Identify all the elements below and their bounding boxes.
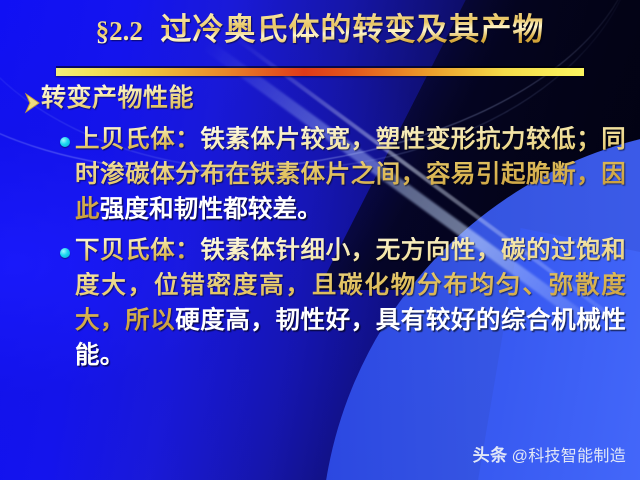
bullet-term: 下贝氏体： [75, 237, 200, 264]
arrow-right-triangle-icon [24, 88, 41, 118]
bullet-dot-icon [60, 248, 70, 258]
slide-body: 转变产物性能 上贝氏体：铁素体片较宽，塑性变形抗力较低；同时渗碳体分布在铁素体片… [0, 82, 640, 379]
bullet-emphasis: 强度和韧性都较差。 [100, 196, 322, 223]
bullet-dot-icon [60, 137, 70, 147]
watermark: 头条 @科技智能制造 [473, 441, 626, 466]
list-item-text: 上贝氏体：铁素体片较宽，塑性变形抗力较低；同时渗碳体分布在铁素体片之间，容易引起… [75, 122, 626, 227]
list-item-text: 下贝氏体：铁素体针细小，无方向性，碳的过饱和度大，位错密度高，且碳化物分布均匀、… [75, 233, 626, 373]
watermark-brand: 头条 [473, 441, 508, 466]
list-item: 下贝氏体：铁素体针细小，无方向性，碳的过饱和度大，位错密度高，且碳化物分布均匀、… [0, 233, 640, 373]
slide-canvas: §2.2 过冷奥氏体的转变及其产物 转变产物性能 上贝氏体：铁素体片较宽，塑性变… [0, 0, 640, 480]
heading-label: 转变产物性能 [41, 82, 194, 116]
title-section-number: §2.2 [96, 16, 143, 46]
page-title: §2.2 过冷奥氏体的转变及其产物 [96, 8, 545, 53]
heading-row: 转变产物性能 [0, 82, 640, 118]
list-item: 上贝氏体：铁素体片较宽，塑性变形抗力较低；同时渗碳体分布在铁素体片之间，容易引起… [0, 122, 640, 227]
title-main-text: 过冷奥氏体的转变及其产物 [160, 12, 544, 47]
slide-title-container: §2.2 过冷奥氏体的转变及其产物 [0, 8, 640, 53]
bullet-term: 上贝氏体： [75, 126, 200, 153]
title-divider-rule [56, 68, 584, 76]
watermark-handle: @科技智能制造 [512, 442, 626, 466]
